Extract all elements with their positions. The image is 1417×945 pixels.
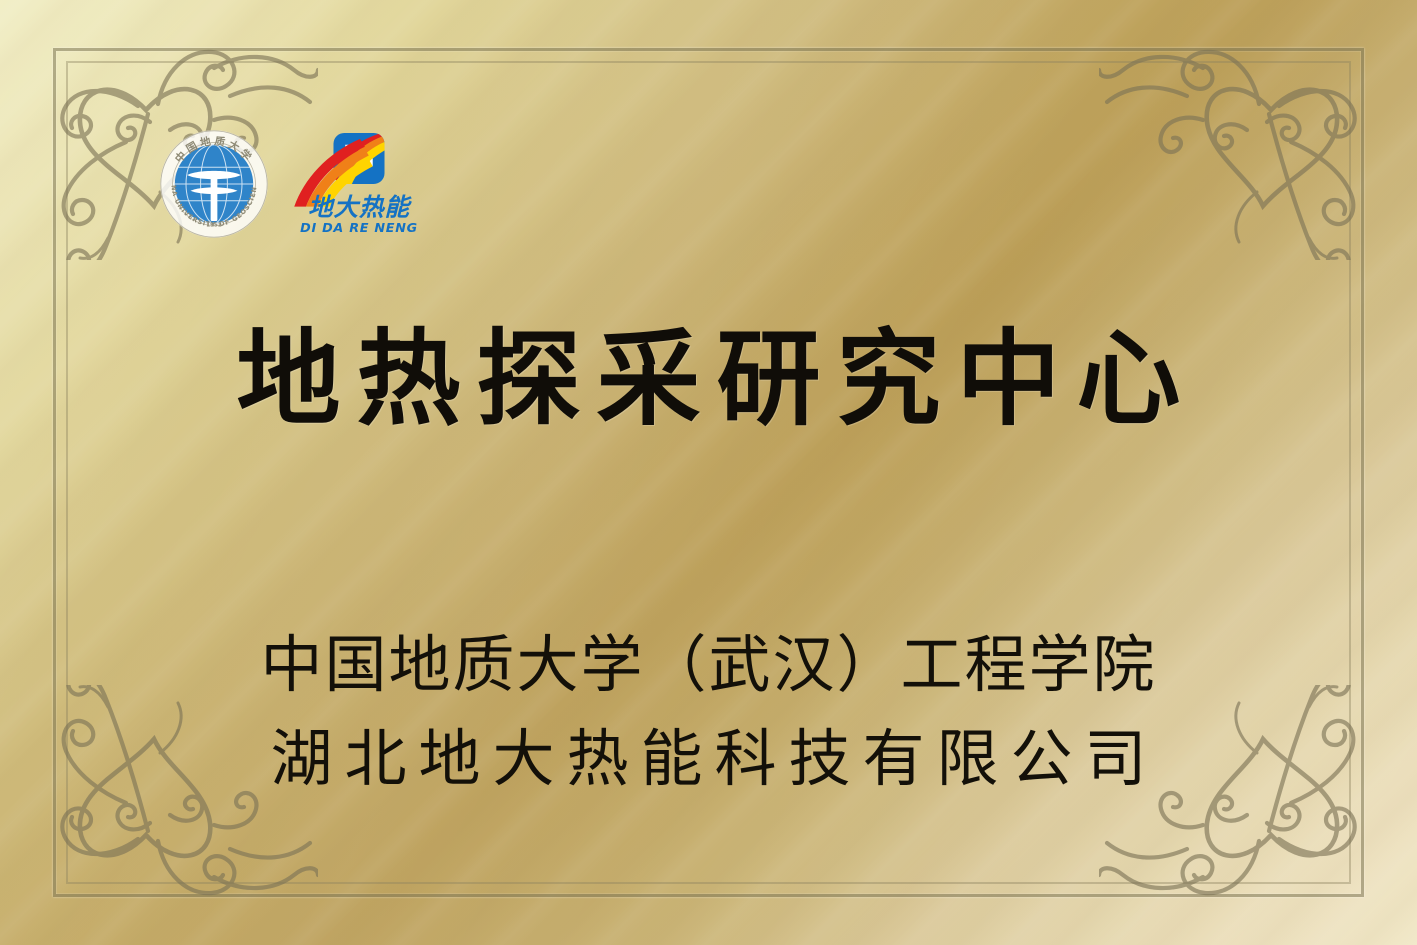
didareneng-mark-icon: 地大热能 DI DA RE NENG xyxy=(290,132,428,236)
page-title: 地热探采研究中心 xyxy=(0,318,1417,441)
svg-text:1952: 1952 xyxy=(206,223,222,229)
award-plaque: 中国地质大学 CHINA UNIVERSITY OF GEOSCIENCES 1… xyxy=(0,0,1417,945)
svg-text:地大热能: 地大热能 xyxy=(308,192,412,221)
university-logo: 中国地质大学 CHINA UNIVERSITY OF GEOSCIENCES 1… xyxy=(158,128,270,240)
logo-row: 中国地质大学 CHINA UNIVERSITY OF GEOSCIENCES 1… xyxy=(158,128,428,240)
subtitle-block: 中国地质大学（武汉）工程学院 湖北地大热能科技有限公司 xyxy=(0,618,1417,806)
svg-text:DI DA RE NENG: DI DA RE NENG xyxy=(300,221,418,236)
subtitle-line-university: 中国地质大学（武汉）工程学院 xyxy=(0,618,1417,712)
corner-flourish-top-right xyxy=(1099,10,1399,260)
cug-emblem-icon: 中国地质大学 CHINA UNIVERSITY OF GEOSCIENCES 1… xyxy=(158,128,270,240)
company-logo: 地大热能 DI DA RE NENG xyxy=(290,132,428,236)
subtitle-line-company: 湖北地大热能科技有限公司 xyxy=(0,712,1417,806)
